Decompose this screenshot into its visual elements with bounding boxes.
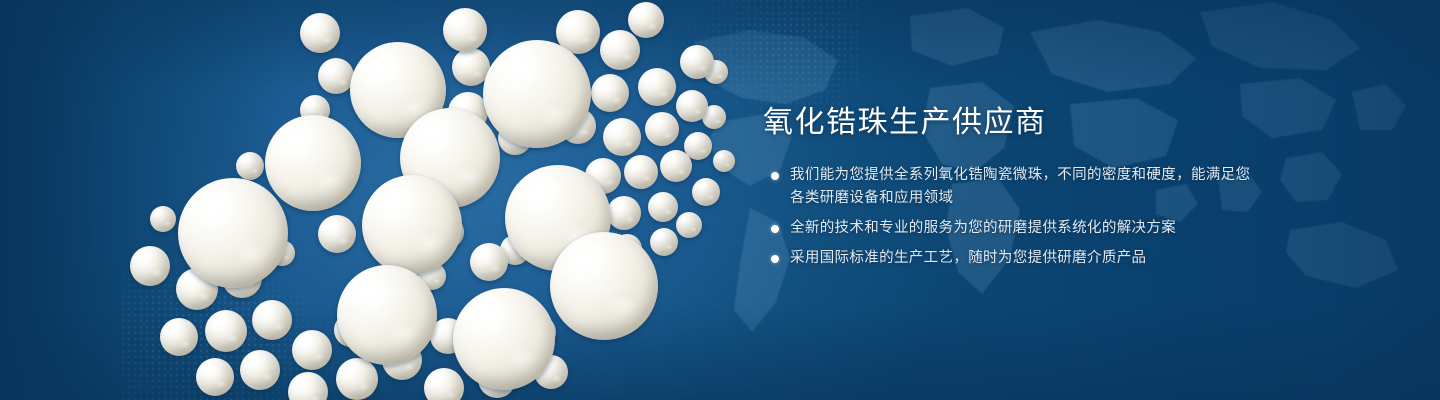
ceramic-bead	[600, 30, 640, 70]
hero-banner: 氧化锆珠生产供应商 我们能为您提供全系列氧化锆陶瓷微珠，不同的密度和硬度，能满足…	[0, 0, 1440, 400]
ceramic-bead	[645, 112, 679, 146]
ceramic-bead	[648, 192, 678, 222]
list-item-text: 全新的技术和专业的服务为您的研磨提供系统化的解决方案	[790, 220, 1176, 236]
ceramic-bead	[252, 300, 292, 340]
ceramic-bead	[550, 232, 658, 340]
list-item: 全新的技术和专业的服务为您的研磨提供系统化的解决方案	[763, 217, 1263, 240]
ceramic-bead	[196, 358, 234, 396]
ceramic-bead	[130, 246, 170, 286]
bullet-dot-icon	[771, 255, 779, 263]
ceramic-bead	[607, 196, 641, 230]
ceramic-bead	[292, 330, 332, 370]
list-item: 我们能为您提供全系列氧化锆陶瓷微珠，不同的密度和硬度，能满足您各类研磨设备和应用…	[763, 164, 1263, 210]
ceramic-bead	[638, 68, 676, 106]
ceramic-bead	[236, 152, 264, 180]
bullet-dot-icon	[771, 225, 779, 233]
ceramic-bead	[240, 350, 280, 390]
banner-feature-list: 我们能为您提供全系列氧化锆陶瓷微珠，不同的密度和硬度，能满足您各类研磨设备和应用…	[763, 164, 1263, 270]
banner-copy-block: 氧化锆珠生产供应商 我们能为您提供全系列氧化锆陶瓷微珠，不同的密度和硬度，能满足…	[763, 104, 1263, 277]
ceramic-bead	[483, 40, 591, 148]
list-item: 采用国际标准的生产工艺，随时为您提供研磨介质产品	[763, 247, 1263, 270]
ceramic-bead	[265, 115, 361, 211]
ceramic-bead	[591, 74, 629, 112]
ceramic-bead	[628, 2, 664, 38]
ceramic-bead	[205, 310, 247, 352]
ceramic-bead	[318, 215, 356, 253]
ceramic-bead	[660, 150, 692, 182]
ceramic-bead	[362, 175, 462, 275]
ceramic-bead	[318, 58, 354, 94]
list-item-text: 采用国际标准的生产工艺，随时为您提供研磨介质产品	[790, 250, 1146, 266]
bullet-dot-icon	[771, 172, 779, 180]
ceramic-bead	[470, 243, 508, 281]
ceramic-bead	[160, 318, 198, 356]
ceramic-bead	[178, 178, 288, 288]
ceramic-bead	[680, 45, 714, 79]
ceramic-bead	[337, 265, 437, 365]
ceramic-bead	[692, 178, 720, 206]
ceramic-bead	[603, 118, 641, 156]
banner-headline: 氧化锆珠生产供应商	[763, 104, 1263, 142]
ceramic-bead	[424, 368, 464, 400]
ceramic-bead	[150, 206, 176, 232]
list-item-text: 我们能为您提供全系列氧化锆陶瓷微珠，不同的密度和硬度，能满足您各类研磨设备和应用…	[790, 167, 1250, 206]
ceramic-bead	[443, 8, 487, 52]
ceramic-bead	[650, 228, 678, 256]
ceramic-bead	[676, 212, 702, 238]
ceramic-bead	[336, 358, 378, 400]
ceramic-bead	[453, 288, 555, 390]
ceramic-bead	[624, 155, 658, 189]
ceramic-bead	[300, 13, 340, 53]
ceramic-bead	[676, 90, 708, 122]
ceramic-bead	[713, 150, 735, 172]
